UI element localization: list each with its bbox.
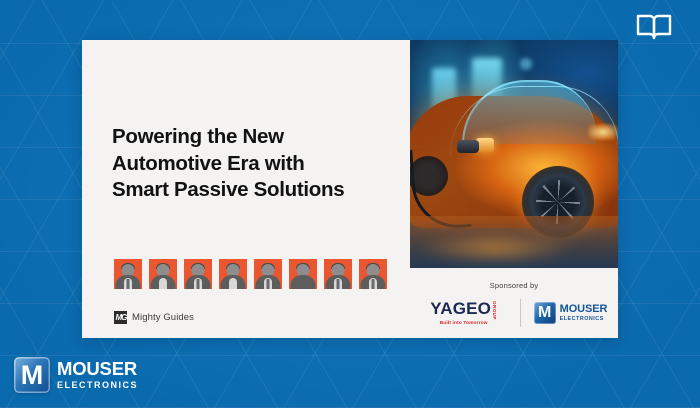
yageo-logo[interactable]: YAGEO GROUP Built into Tomorrow	[421, 300, 507, 327]
brand-mark-letter: M	[21, 362, 44, 389]
hero-bokeh-dot	[520, 58, 532, 70]
speaker-headshot	[359, 259, 387, 289]
headshot-tie	[127, 279, 130, 289]
yageo-logo-top: YAGEO GROUP	[430, 300, 497, 320]
mouser-electronics-logo[interactable]: M MOUSER ELECTRONICS	[534, 302, 608, 324]
mouser-mark-letter: M	[538, 305, 551, 321]
mouser-subtitle: ELECTRONICS	[560, 317, 608, 322]
open-book-icon[interactable]	[634, 10, 674, 44]
speaker-headshot	[289, 259, 317, 289]
speaker-headshot	[149, 259, 177, 289]
banner-stage: Powering the New Automotive Era with Sma…	[0, 0, 700, 408]
speaker-headshot-strip	[114, 259, 387, 289]
headline-line-2: Automotive Era with	[112, 151, 402, 178]
sponsor-logo-row: YAGEO GROUP Built into Tomorrow M MOUSER…	[421, 299, 608, 327]
mouser-wordmark-group: MOUSER ELECTRONICS	[560, 304, 608, 322]
headshot-shirt	[159, 278, 167, 289]
publisher-name: Mighty Guides	[132, 312, 194, 323]
mighty-guides-mark-icon: MG	[114, 311, 127, 324]
headshot-tie	[197, 279, 200, 289]
road-reflection	[420, 232, 570, 264]
yageo-tagline: Built into Tomorrow	[440, 321, 488, 326]
speaker-headshot	[324, 259, 352, 289]
speaker-headshot	[114, 259, 142, 289]
mouser-name: MOUSER	[560, 304, 608, 315]
card-right-panel: Sponsored by YAGEO GROUP Built into Tomo…	[410, 40, 618, 338]
mighty-guides-mark-label: MG	[116, 313, 127, 322]
brand-subtitle: ELECTRONICS	[57, 381, 138, 390]
yageo-wordmark: YAGEO	[430, 300, 491, 317]
headshot-tie	[337, 279, 340, 289]
brand-wordmark-group: MOUSER ELECTRONICS	[57, 360, 138, 391]
mouser-m-mark-icon: M	[534, 302, 556, 324]
publisher-logo[interactable]: MG Mighty Guides	[114, 311, 194, 324]
headline-line-1: Powering the New	[112, 124, 402, 151]
logo-divider	[520, 299, 521, 327]
content-card: Powering the New Automotive Era with Sma…	[82, 40, 618, 338]
headshot-shirt	[229, 278, 237, 289]
brand-logo-overlay[interactable]: M MOUSER ELECTRONICS	[14, 357, 138, 393]
brand-name: MOUSER	[57, 360, 138, 379]
yageo-group-label: GROUP	[492, 301, 497, 320]
hero-image-electric-car	[410, 40, 618, 268]
car-headlight	[588, 124, 618, 140]
headshot-tie	[372, 279, 375, 289]
brand-m-mark-icon: M	[14, 357, 50, 393]
headline-line-3: Smart Passive Solutions	[112, 177, 402, 204]
sponsor-section: Sponsored by YAGEO GROUP Built into Tomo…	[410, 268, 618, 338]
headshot-tie	[267, 279, 270, 289]
speaker-headshot	[219, 259, 247, 289]
card-left-panel: Powering the New Automotive Era with Sma…	[82, 40, 410, 338]
headshot-shoulders	[291, 275, 316, 289]
page-title: Powering the New Automotive Era with Sma…	[112, 124, 402, 204]
sponsored-by-label: Sponsored by	[490, 281, 539, 290]
speaker-headshot	[254, 259, 282, 289]
speaker-headshot	[184, 259, 212, 289]
